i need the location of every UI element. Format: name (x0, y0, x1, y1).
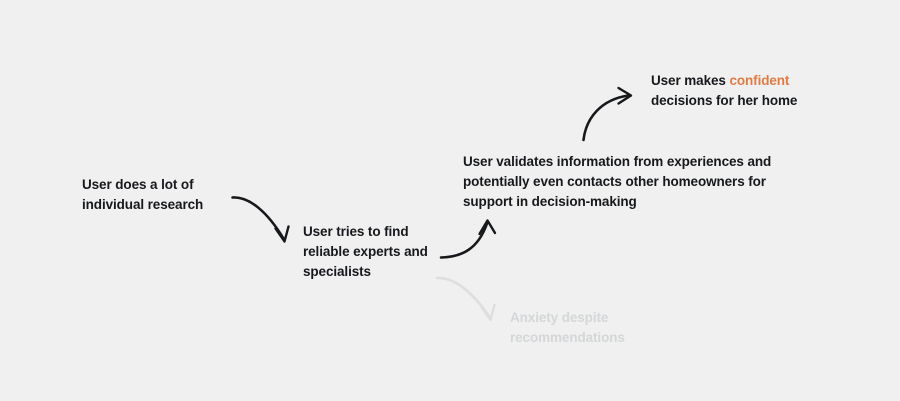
node-research: User does a lot of individual research (82, 175, 203, 215)
connector-experts-to-validates (441, 221, 495, 258)
connector-experts-to-anxiety (437, 278, 495, 320)
node-confident-line-1: User makes confident (651, 71, 797, 91)
node-anxiety: Anxiety despite recommendations (510, 308, 625, 348)
node-validates-line-2: potentially even contacts other homeowne… (463, 172, 771, 192)
node-experts-line-2: reliable experts and (303, 242, 428, 262)
node-validates-line-3: support in decision-making (463, 192, 771, 212)
node-confident-prefix: User makes (651, 73, 729, 88)
node-experts: User tries to find reliable experts and … (303, 222, 428, 282)
node-research-line-2: individual research (82, 195, 203, 215)
diagram-canvas: User does a lot of individual research U… (0, 0, 900, 401)
node-research-line-1: User does a lot of (82, 175, 203, 195)
node-validates: User validates information from experien… (463, 152, 771, 212)
node-anxiety-line-1: Anxiety despite (510, 308, 625, 328)
node-confident-accent-word: confident (729, 73, 789, 88)
node-confident: User makes confident decisions for her h… (651, 71, 797, 111)
connector-research-to-experts (233, 197, 289, 241)
node-anxiety-line-2: recommendations (510, 328, 625, 348)
node-experts-line-3: specialists (303, 262, 428, 282)
node-confident-line-2: decisions for her home (651, 91, 797, 111)
node-validates-line-1: User validates information from experien… (463, 152, 771, 172)
connector-validates-to-confident (584, 88, 632, 140)
node-experts-line-1: User tries to find (303, 222, 428, 242)
